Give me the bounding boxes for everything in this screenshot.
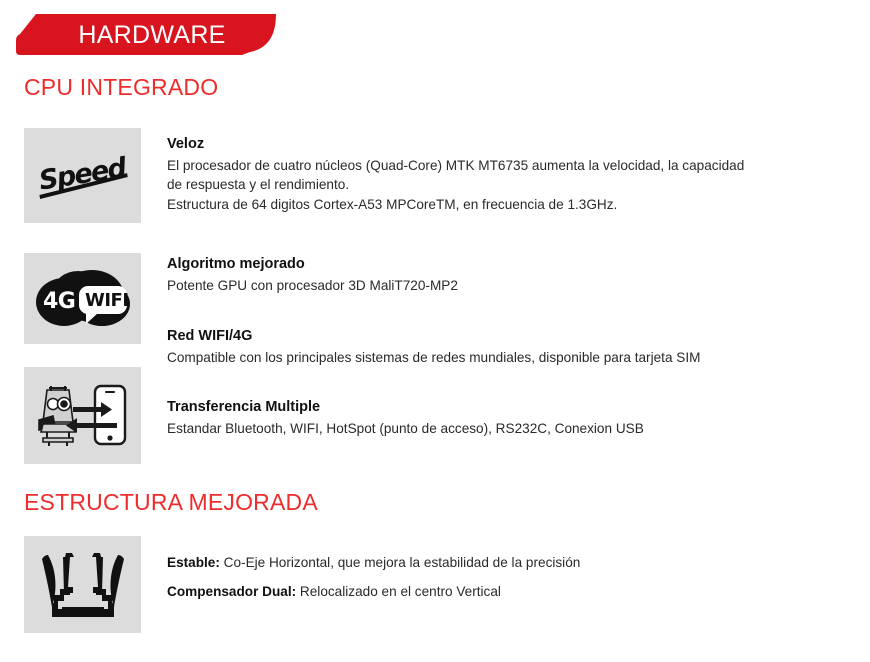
speed-logo-text: Speed	[36, 152, 129, 197]
total-station-icon	[39, 386, 75, 446]
wifi-label: WIFI	[85, 290, 129, 311]
section-title-estructura-mejorada: ESTRUCTURA MEJORADA	[24, 489, 318, 516]
structure-item-estable: Estable: Co-Eje Horizontal, que mejora l…	[167, 553, 857, 573]
total-station-to-phone-transfer-icon	[33, 376, 133, 456]
structure-item-compensador-label: Compensador Dual:	[167, 584, 296, 599]
feature-veloz-line-2: de respuesta y el rendimiento.	[167, 175, 857, 194]
structure-item-estable-text: Co-Eje Horizontal, que mejora la estabil…	[220, 555, 580, 570]
feature-veloz-line-1: El procesador de cuatro núcleos (Quad-Co…	[167, 156, 857, 175]
dual-support-arms-structure-icon	[34, 545, 132, 625]
structure-item-compensador-text: Relocalizado en el centro Vertical	[296, 584, 501, 599]
feature-algoritmo-mejorado: Algoritmo mejorado Potente GPU con proce…	[167, 255, 857, 295]
section-title-cpu-integrado: CPU INTEGRADO	[24, 74, 218, 101]
structure-features-list: Estable: Co-Eje Horizontal, que mejora l…	[167, 553, 857, 601]
feature-red-line-1: Compatible con los principales sistemas …	[167, 348, 857, 367]
4g-wifi-icon: 4G WIFI	[30, 264, 136, 334]
feature-algoritmo-line-1: Potente GPU con procesador 3D MaliT720-M…	[167, 276, 857, 295]
feature-transfer-title: Transferencia Multiple	[167, 398, 857, 416]
icon-tile-transfer	[24, 367, 141, 464]
icon-tile-structure	[24, 536, 141, 633]
structure-outline	[42, 553, 124, 617]
4g-label: 4G	[43, 289, 75, 314]
feature-transferencia-multiple: Transferencia Multiple Estandar Bluetoot…	[167, 398, 857, 438]
hardware-banner: HARDWARE	[14, 14, 276, 56]
structure-item-estable-label: Estable:	[167, 555, 220, 570]
feature-veloz: Veloz El procesador de cuatro núcleos (Q…	[167, 135, 857, 214]
feature-red-wifi-4g: Red WIFI/4G Compatible con los principal…	[167, 327, 857, 367]
icon-tile-speed: Speed	[24, 128, 141, 223]
feature-algoritmo-title: Algoritmo mejorado	[167, 255, 857, 273]
banner-label: HARDWARE	[14, 14, 276, 56]
feature-veloz-title: Veloz	[167, 135, 857, 153]
feature-transfer-line-1: Estandar Bluetooth, WIFI, HotSpot (punto…	[167, 419, 857, 438]
feature-red-title: Red WIFI/4G	[167, 327, 857, 345]
icon-tile-network: 4G WIFI	[24, 253, 141, 344]
smartphone-icon	[95, 386, 125, 444]
speed-logo-icon: Speed	[31, 145, 135, 207]
feature-veloz-line-3: Estructura de 64 digitos Cortex-A53 MPCo…	[167, 195, 857, 214]
structure-item-compensador: Compensador Dual: Relocalizado en el cen…	[167, 582, 857, 602]
